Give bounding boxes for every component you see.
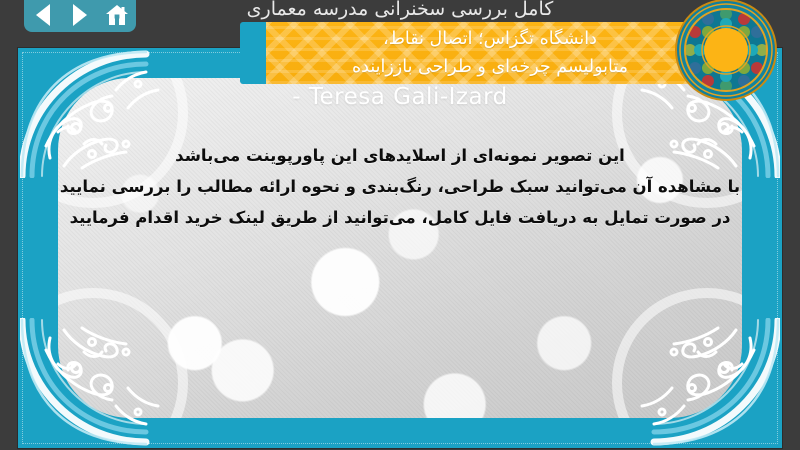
arrow-left-icon: [36, 4, 50, 26]
decorative-arc-bottom-right: [612, 288, 742, 418]
home-icon: [105, 4, 129, 26]
slide-body-text: این تصویر نمونه‌ای از اسلایدهای این پاور…: [18, 140, 782, 233]
banner-line-1: دانشگاه تگزاس؛ اتصال نقاط،: [383, 25, 597, 53]
slide-body-line-1: این تصویر نمونه‌ای از اسلایدهای این پاور…: [18, 140, 782, 171]
home-button[interactable]: [102, 2, 132, 28]
slide-inner-panel: [58, 78, 742, 418]
banner-line-2: متابولیسم چرخه‌ای و طراحی باززاینده: [352, 53, 628, 81]
lecture-title-banner: دانشگاه تگزاس؛ اتصال نقاط، متابولیسم چرخ…: [264, 22, 720, 84]
next-slide-button[interactable]: [65, 2, 95, 28]
arrow-right-icon: [73, 4, 87, 26]
slide-body-line-2: با مشاهده آن می‌توانید سبک طراحی، رنگ‌بن…: [18, 171, 782, 202]
slide-body-line-3: در صورت تمایل به دریافت فایل کامل، می‌تو…: [18, 202, 782, 233]
previous-slide-button[interactable]: [28, 2, 58, 28]
decorative-arc-bottom-left: [58, 288, 188, 418]
navigation-toolbar[interactable]: [24, 0, 136, 32]
persian-medallion-icon: [674, 0, 778, 102]
banner-accent-tab: [240, 22, 266, 84]
slide-preview-stage: این تصویر نمونه‌ای از اسلایدهای این پاور…: [0, 0, 800, 450]
